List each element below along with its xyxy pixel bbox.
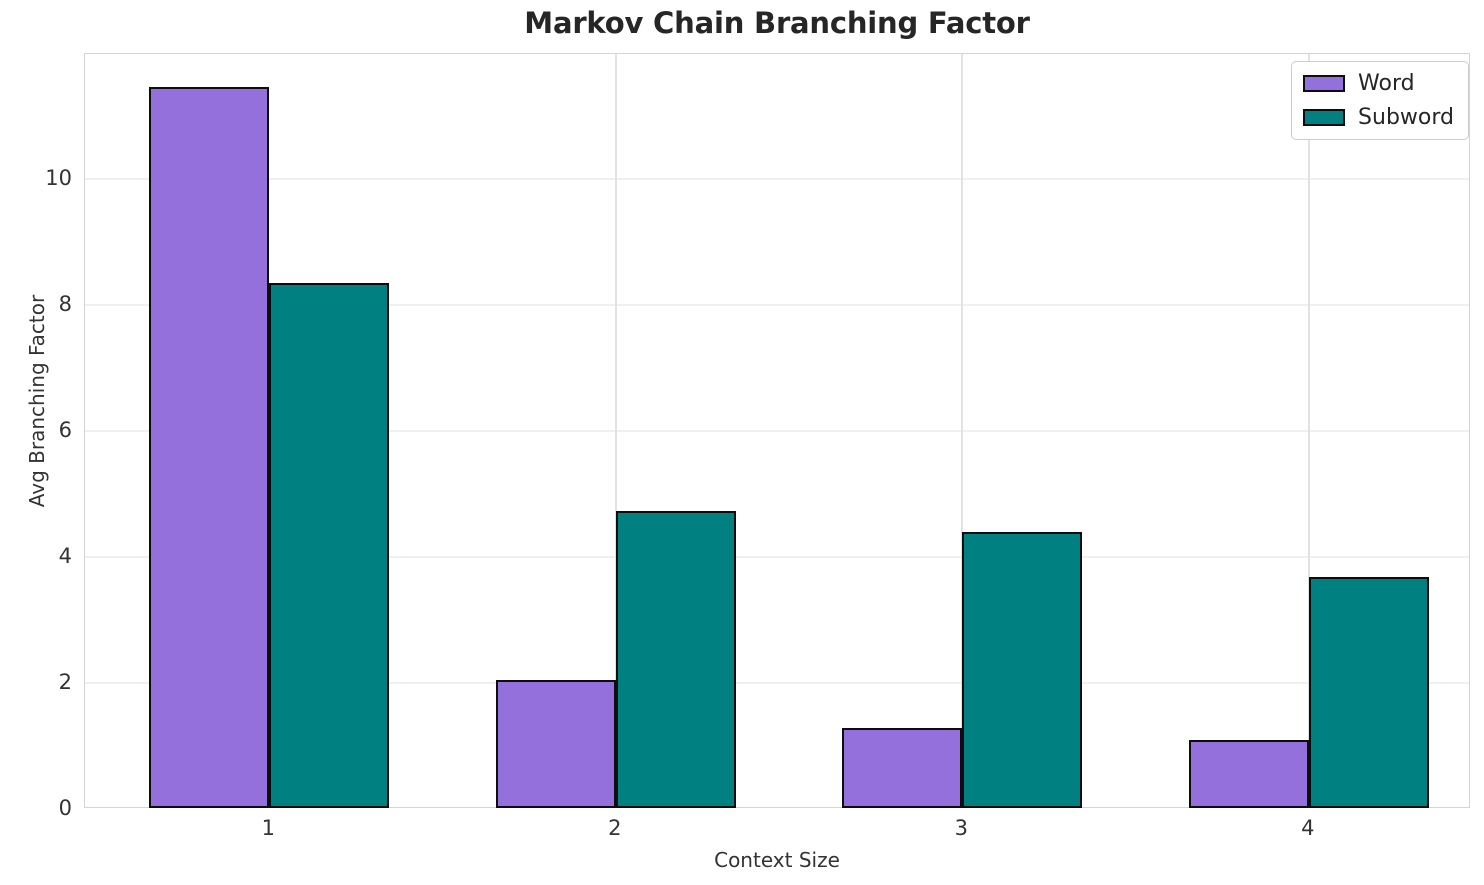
legend-item-subword: Subword [1303, 105, 1454, 130]
legend-swatch-subword-icon [1303, 109, 1345, 126]
chart-title: Markov Chain Branching Factor [84, 6, 1470, 40]
x-axis-label: Context Size [84, 848, 1470, 872]
bar-word-4 [1189, 740, 1309, 808]
x-axis-tick-label: 4 [1268, 816, 1348, 840]
legend: Word Subword [1291, 61, 1469, 140]
bars-container [85, 54, 1469, 807]
legend-item-word: Word [1303, 71, 1454, 96]
bar-word-2 [496, 680, 616, 808]
bar-subword-4 [1309, 577, 1429, 808]
y-axis-tick-label: 0 [12, 796, 72, 820]
chart-figure: Markov Chain Branching Factor 0246810 Av… [0, 0, 1484, 885]
x-axis-tick-label: 3 [921, 816, 1001, 840]
x-axis-tick-label: 1 [228, 816, 308, 840]
bar-word-3 [842, 728, 962, 808]
bar-word-1 [149, 87, 269, 808]
bar-subword-2 [616, 511, 736, 808]
bar-subword-3 [962, 532, 1082, 808]
x-axis-ticks: 1234 [84, 816, 1470, 848]
bar-subword-1 [269, 283, 389, 808]
legend-swatch-word-icon [1303, 75, 1345, 92]
legend-label-word: Word [1358, 71, 1415, 96]
y-axis-label: Avg Branching Factor [25, 21, 49, 781]
legend-label-subword: Subword [1358, 105, 1454, 130]
x-axis-tick-label: 2 [575, 816, 655, 840]
plot-area [84, 53, 1470, 808]
